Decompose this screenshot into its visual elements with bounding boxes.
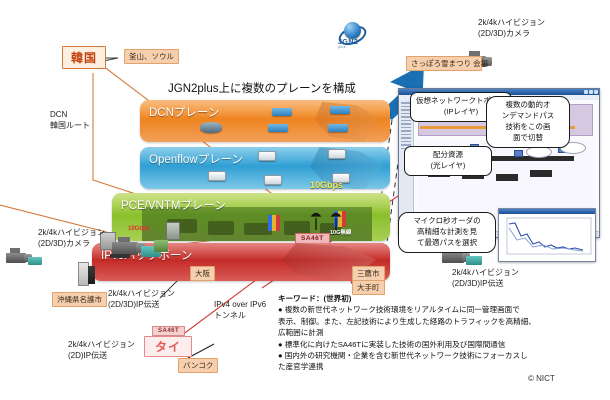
left-camera-icon — [4, 244, 44, 270]
callout-ondemand-path: 複数の動的オ ンデマンドパス 技術をこの画 面で切替 — [486, 96, 570, 148]
graph-series — [499, 214, 595, 261]
site-tag-sapporo: さっぽろ雪まつり 会場 — [406, 56, 482, 71]
ofswitch-icon — [208, 171, 226, 181]
device-box-icon — [166, 222, 180, 240]
server-rack-icon — [88, 266, 95, 284]
wireless-dish-icons — [310, 212, 354, 234]
logo-subtext: plus — [338, 45, 346, 49]
jgn2-logo: JGN2 plus — [338, 22, 368, 52]
logo-globe-icon — [344, 22, 361, 39]
callout-allocated-resource: 配分資源 (光レイヤ) — [404, 146, 492, 176]
korea-box: 韓国 — [62, 46, 106, 69]
measurement-graph-window[interactable] — [498, 208, 596, 262]
label-osaka-ip: 2k/4kハイビジョン (2D/3D)IP伝送 — [108, 289, 175, 311]
keyword-item: ● 国内外の研究機関・企業を含む新世代ネットワーク技術にフォーカスし た産官学連… — [278, 350, 578, 373]
plane-label-dcn: DCNプレーン — [149, 104, 219, 120]
graph-plot-area — [499, 214, 595, 261]
window-close-icon[interactable] — [594, 90, 598, 94]
switch-icon — [330, 106, 350, 114]
site-tag-okinawa: 沖縄県名護市 — [52, 292, 107, 307]
plane-label-openflow: Openflowプレーン — [149, 151, 243, 167]
ofswitch-icon — [264, 175, 282, 185]
ofswitch-icon — [328, 149, 346, 159]
keyword-item: ● 複数の新世代ネットワーク技術環境をリアルタイムに同一管理画面で 表示、制御。… — [278, 304, 578, 338]
plane-dcn[interactable]: DCNプレーン — [140, 100, 390, 142]
keywords-block: キーワード：(世界初) ● 複数の新世代ネットワーク技術環境をリアルタイムに同一… — [278, 293, 578, 373]
page-title: JGN2plus上に複数のプレーンを構成 — [168, 80, 356, 96]
link-speed-label: 10Gbps — [310, 180, 343, 190]
dcn-korea-route-label: DCN 韓国ルート — [50, 110, 90, 132]
ofswitch-icon — [258, 151, 276, 161]
okinawa-camera-icon — [108, 232, 170, 266]
plane-label-pce: PCE/VNTMプレーン — [121, 197, 226, 213]
label-okinawa-camera: 2k/4kハイビジョン (2D/3D)カメラ — [38, 228, 105, 250]
diagram-canvas: JGN2 plus JGN2plus上に複数のプレーンを構成 韓国 釜山、ソウル… — [0, 0, 610, 400]
label-sapporo-camera: 2k/4kハイビジョン (2D/3D)カメラ — [478, 18, 545, 40]
keyword-item: ● 標準化に向けたSA46Tに実装した技術の国外利用及び国際間通信 — [278, 339, 578, 350]
label-ipv4-over-ipv6-tunnel: IPv4 over IPv6 トンネル — [214, 300, 266, 322]
site-tag-osaka: 大阪 — [190, 266, 215, 281]
thailand-box: タイ — [144, 336, 192, 357]
label-mitaka-ip: 2k/4kハイビジョン (2D/3D)IP伝送 — [452, 268, 519, 290]
router-icon — [200, 122, 222, 133]
switch-icon — [328, 124, 348, 132]
switch-icon — [268, 124, 288, 132]
plane-openflow[interactable]: Openflowプレーン — [140, 147, 390, 189]
window-maximize-icon[interactable] — [589, 90, 593, 94]
sa46t-badge-thailand: SA46T — [152, 326, 185, 336]
copyright-notice: © NICT — [528, 374, 555, 383]
window-minimize-icon[interactable] — [584, 90, 588, 94]
keywords-heading: キーワード：(世界初) — [278, 293, 578, 304]
label-thai-ip: 2k/4kハイビジョン (2D)IP伝送 — [68, 340, 135, 362]
switch-icon — [272, 108, 292, 116]
site-tag-bangkok: バンコク — [178, 358, 218, 373]
korea-cities-tag: 釜山、ソウル — [124, 49, 179, 64]
callout-micro-measurement: マイクロ秒オーダの 高精細な計測を見 て最適パスを選択 — [398, 212, 496, 253]
city-block — [208, 221, 234, 235]
fiber-red — [276, 215, 280, 231]
